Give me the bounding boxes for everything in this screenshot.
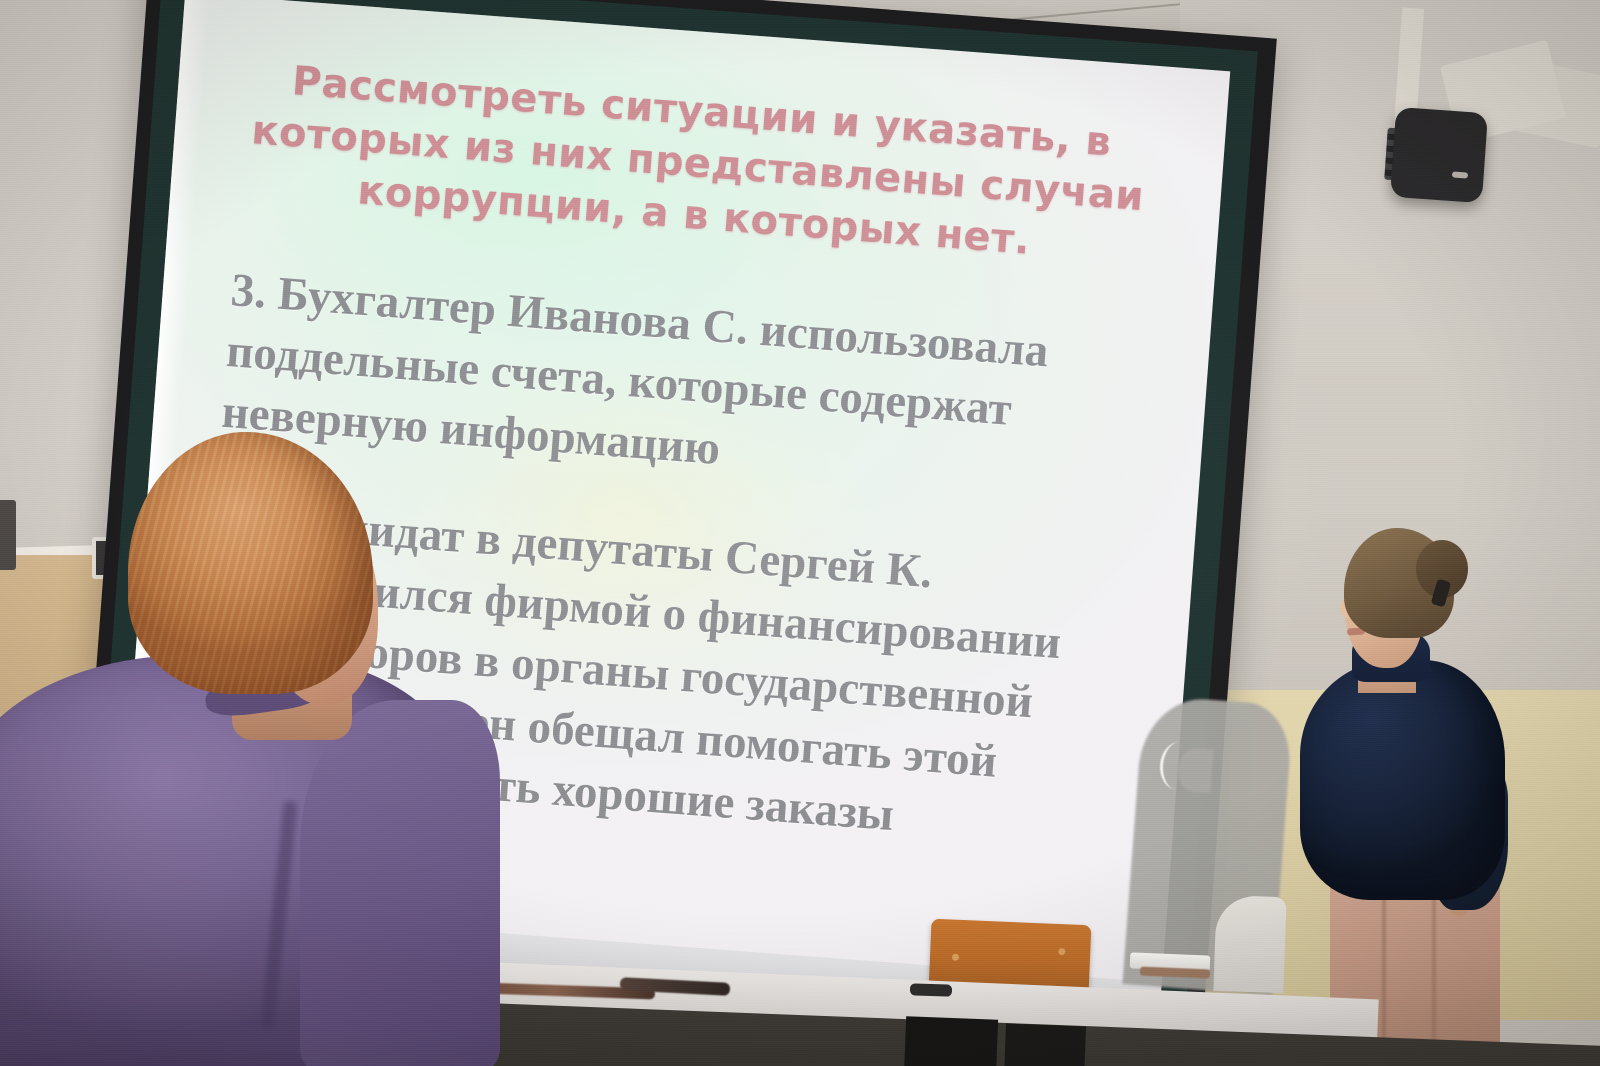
presenter-remote bbox=[910, 983, 952, 996]
desk-cable-cutout-2 bbox=[1004, 1023, 1086, 1066]
ceiling-speaker-icon bbox=[1390, 107, 1488, 203]
person-left-shoulder bbox=[300, 700, 500, 1066]
slide-item-3: 3. Бухгалтер Иванова С. использовала под… bbox=[220, 260, 1153, 512]
classroom-photo-scene: Рассмотреть ситуации и указать, в которы… bbox=[0, 0, 1600, 1066]
desk-cable-cutout bbox=[904, 1016, 998, 1066]
slide-title: Рассмотреть ситуации и указать, в которы… bbox=[243, 52, 1153, 275]
person-right-sweater bbox=[1300, 660, 1505, 900]
speaker-led-indicator bbox=[1452, 171, 1468, 178]
wall-dark-panel bbox=[0, 500, 16, 570]
white-chair bbox=[1213, 895, 1286, 993]
person-right-trouser-pleat-2 bbox=[1432, 880, 1436, 1060]
